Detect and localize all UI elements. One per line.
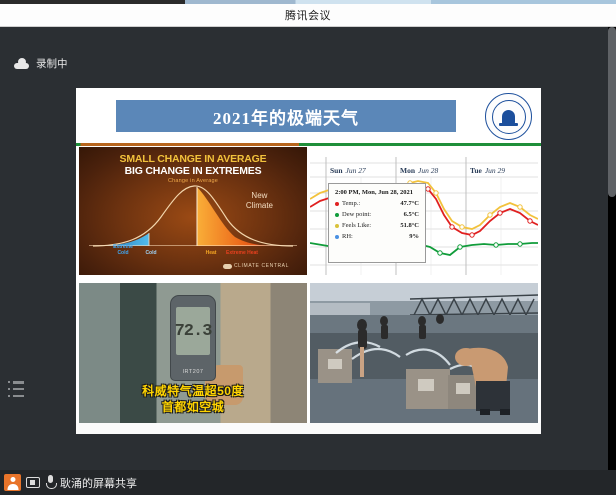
heatwave-fountain-photo	[310, 283, 538, 423]
weather-tooltip-key: RH:	[342, 233, 409, 240]
weather-tooltip-value: 51.8°C	[400, 222, 419, 229]
weather-tooltip-timestamp: 2:00 PM, Mon, Jun 28, 2021	[335, 189, 419, 196]
seal-inner-ring	[492, 100, 526, 134]
weather-tooltip-value: 9%	[409, 233, 419, 240]
list-icon-row	[8, 381, 24, 384]
thermometer-display: 72.3	[176, 307, 210, 355]
weather-day-header: Sun Jun 27	[326, 163, 396, 177]
list-icon-bar	[13, 388, 24, 391]
weather-tooltip-row: Feels Like: 51.8°C	[335, 222, 419, 229]
slide-footer-strip	[76, 423, 541, 434]
bellcurve-label-cold: Cold	[141, 250, 161, 256]
weather-day-date: Jun 28	[418, 166, 438, 175]
weather-day-dow: Sun	[330, 166, 343, 175]
list-icon[interactable]	[8, 381, 24, 397]
slide-header-divider	[76, 143, 541, 146]
photo-caption-line2: 首都如空城	[79, 399, 307, 415]
temp-bullet-icon	[335, 202, 339, 206]
thermometer-device: 72.3 IRT207	[170, 295, 216, 381]
slide-lower-row: 72.3 IRT207 科威特气温超50度 首都如空城	[79, 283, 538, 423]
climate-bellcurve-graphic: SMALL CHANGE IN AVERAGE BIG CHANGE IN EX…	[79, 147, 307, 275]
climate-central-mark-icon	[223, 264, 232, 269]
weather-tooltip-value: 6.5°C	[404, 211, 419, 218]
weather-tooltip-key: Feels Like:	[342, 222, 400, 229]
fountain-scene-svg	[310, 283, 538, 423]
slide-upper-row: SMALL CHANGE IN AVERAGE BIG CHANGE IN EX…	[79, 147, 538, 275]
list-icon-row	[8, 395, 24, 398]
weather-tooltip-value: 47.7°C	[400, 200, 419, 207]
presenter-name: 耿涌的屏幕共享	[60, 475, 137, 491]
cloud-icon	[14, 58, 29, 69]
weather-day-header: Tue Jun 29	[466, 163, 536, 177]
screen-share-icon[interactable]	[26, 477, 40, 488]
window-titlebar: 腾讯会议	[0, 4, 616, 27]
thermometer-model-label: IRT207	[171, 369, 215, 375]
rh-bullet-icon	[335, 235, 339, 239]
weather-tooltip-key: Dew point:	[342, 211, 404, 218]
university-seal-logo	[485, 93, 532, 140]
slide-title: 2021年的极端天气	[213, 104, 359, 129]
weather-day-header: Mon Jun 28	[396, 163, 466, 177]
climate-central-brand: CLIMATE CENTRAL	[223, 263, 289, 269]
slide-header: 2021年的极端天气	[76, 88, 541, 143]
weather-tooltip-row: Dew point: 6.5°C	[335, 211, 419, 218]
weather-day-dow: Tue	[470, 166, 482, 175]
feelslike-bullet-icon	[335, 224, 339, 228]
bellcurve-label-heat: Heat	[201, 250, 221, 256]
weather-timeline-chart: Sun Jun 27 Mon Jun 28 Tue Jun 29 2:00 PM…	[310, 147, 538, 275]
vertical-scrollbar-thumb[interactable]	[608, 27, 616, 197]
shared-slide: 2021年的极端天气 SMALL CHANGE IN AVERAGE BIG C…	[76, 88, 541, 434]
photo-caption-line1: 科威特气温超50度	[79, 383, 307, 399]
list-icon-dot	[8, 388, 10, 390]
weather-day-dow: Mon	[400, 166, 415, 175]
bellcurve-label-extreme-cold: Extreme Cold	[109, 244, 137, 256]
weather-day-date: Jun 29	[485, 166, 505, 175]
recording-indicator: 录制中	[14, 56, 68, 71]
bellcurve-label-extreme-heat: Extreme Heat	[225, 250, 259, 256]
list-icon-bar	[13, 381, 24, 384]
weather-tooltip: 2:00 PM, Mon, Jun 28, 2021 Temp.: 47.7°C…	[328, 183, 426, 263]
list-icon-dot	[8, 381, 10, 383]
weather-day-date: Jun 27	[346, 166, 366, 175]
kuwait-thermometer-photo: 72.3 IRT207 科威特气温超50度 首都如空城	[79, 283, 307, 423]
seal-bell-emblem	[502, 110, 515, 124]
photo-caption: 科威特气温超50度 首都如空城	[79, 383, 307, 415]
screen-root: 腾讯会议 录制中 2021年的极端天气	[0, 0, 616, 495]
microphone-icon[interactable]	[45, 475, 55, 490]
list-icon-row	[8, 388, 24, 391]
thermometer-reading: 72.3	[175, 322, 212, 341]
person-icon	[4, 474, 21, 491]
weather-tooltip-key: Temp.:	[342, 200, 400, 207]
weather-tooltip-row: Temp.: 47.7°C	[335, 200, 419, 207]
dewpoint-bullet-icon	[335, 213, 339, 217]
slide-title-banner: 2021年的极端天气	[116, 100, 456, 132]
climate-central-brand-text: CLIMATE CENTRAL	[234, 263, 289, 269]
list-icon-dot	[8, 395, 10, 397]
screen-share-statusbar: 耿涌的屏幕共享	[0, 470, 616, 495]
recording-label: 录制中	[36, 56, 68, 71]
window-title: 腾讯会议	[285, 7, 331, 23]
list-icon-bar	[13, 395, 24, 398]
weather-tooltip-row: RH: 9%	[335, 233, 419, 240]
